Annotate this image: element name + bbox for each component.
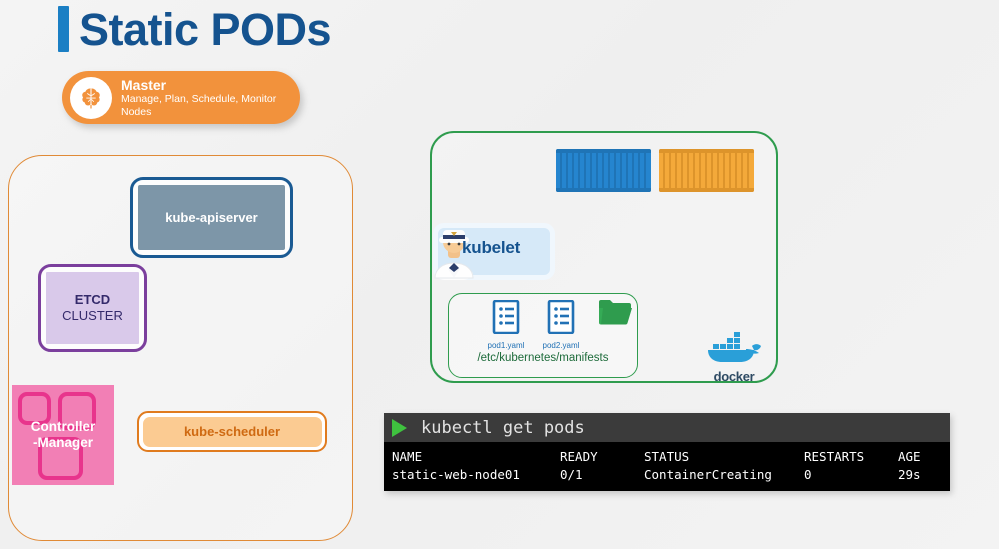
column-header-name: NAME — [392, 448, 560, 466]
controller-manager-component: Controller -Manager — [12, 385, 114, 485]
manifest-file-2-label: pod2.yaml — [536, 341, 586, 350]
play-triangle-icon[interactable] — [392, 419, 407, 437]
docker-label: docker — [700, 369, 768, 384]
kubelet-label: kubelet — [462, 238, 520, 258]
docker-whale-icon: docker — [700, 330, 768, 384]
terminal-window: kubectl get pods NAME READY STATUS RESTA… — [384, 413, 950, 491]
controller-manager-label-line1: Controller — [31, 419, 96, 435]
kube-apiserver-component: kube-apiserver — [130, 177, 293, 258]
manifest-file-1: pod1.yaml — [481, 300, 531, 350]
cell-age: 29s — [898, 466, 948, 484]
controller-manager-label-line2: -Manager — [33, 435, 93, 451]
page-title: Static PODs — [58, 6, 331, 52]
column-header-ready: READY — [560, 448, 644, 466]
kube-scheduler-component: kube-scheduler — [137, 411, 327, 452]
container-blue-icon — [556, 149, 651, 192]
etcd-cluster-component: ETCD CLUSTER — [38, 264, 147, 352]
cell-pod-name: static-web-node01 — [392, 466, 560, 484]
table-row: static-web-node01 0/1 ContainerCreating … — [392, 466, 950, 484]
cell-ready: 0/1 — [560, 466, 644, 484]
etcd-label-primary: ETCD — [75, 293, 110, 308]
master-title: Master — [121, 77, 289, 93]
column-header-status: STATUS — [644, 448, 804, 466]
title-accent-bar — [58, 6, 69, 52]
cell-restarts: 0 — [804, 466, 898, 484]
yaml-document-icon — [492, 300, 520, 334]
etcd-label-secondary: CLUSTER — [62, 308, 123, 324]
master-node-badge: Master Manage, Plan, Schedule, Monitor N… — [62, 71, 300, 124]
terminal-output: NAME READY STATUS RESTARTS AGE static-we… — [384, 442, 950, 484]
yaml-document-icon — [547, 300, 575, 334]
cell-status: ContainerCreating — [644, 466, 804, 484]
column-header-age: AGE — [898, 448, 948, 466]
folder-icon — [598, 299, 632, 330]
slide-canvas: Static PODs Master Manage, Plan, Schedul… — [0, 0, 999, 549]
container-orange-icon — [659, 149, 754, 192]
manifest-file-1-label: pod1.yaml — [481, 341, 531, 350]
kube-apiserver-body: kube-apiserver — [138, 185, 285, 250]
table-header-row: NAME READY STATUS RESTARTS AGE — [392, 448, 950, 466]
manifest-file-2: pod2.yaml — [536, 300, 586, 350]
kube-scheduler-body: kube-scheduler — [143, 417, 322, 447]
master-text-block: Master Manage, Plan, Schedule, Monitor N… — [121, 77, 289, 118]
controller-manager-label: Controller -Manager — [12, 385, 114, 485]
master-subtitle: Manage, Plan, Schedule, Monitor Nodes — [121, 93, 289, 118]
kube-apiserver-label: kube-apiserver — [165, 210, 258, 225]
column-header-restarts: RESTARTS — [804, 448, 898, 466]
manifests-path-label: /etc/kubernetes/manifests — [448, 352, 638, 364]
terminal-command-bar: kubectl get pods — [384, 413, 950, 442]
title-text: Static PODs — [79, 7, 331, 52]
etcd-cluster-body: ETCD CLUSTER — [46, 272, 139, 344]
kube-scheduler-label: kube-scheduler — [184, 424, 280, 439]
terminal-command-text: kubectl get pods — [421, 418, 585, 438]
brain-icon — [70, 77, 112, 119]
